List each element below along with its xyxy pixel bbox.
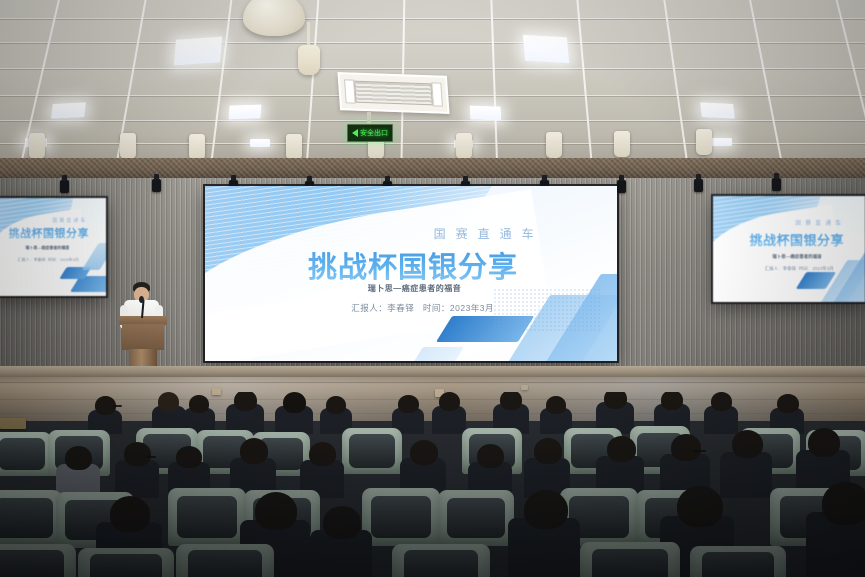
ceiling-speaker xyxy=(286,134,302,160)
audience-head xyxy=(534,438,562,464)
glasses-icon xyxy=(113,405,122,407)
light-panel xyxy=(228,104,261,119)
audience-head xyxy=(65,446,92,470)
stage-object xyxy=(521,385,528,390)
audience-head xyxy=(732,430,763,458)
glasses-icon xyxy=(146,456,156,458)
audience-head xyxy=(607,436,636,462)
slide-title: 挑战杯国银分享 xyxy=(9,225,90,241)
slide-kicker: 国赛直通车 xyxy=(52,217,87,224)
audience-head xyxy=(255,492,297,530)
light-panel xyxy=(51,102,86,119)
audience xyxy=(0,392,865,577)
auditorium-seat xyxy=(580,542,680,577)
slide-kicker: 国赛直通车 xyxy=(434,225,544,242)
presenter-label: 汇报人： xyxy=(765,266,783,271)
ceiling-speaker xyxy=(29,133,45,159)
presenter-label: 汇报人： xyxy=(351,303,387,313)
exit-arrow-icon xyxy=(352,129,358,137)
date-label: 时间： xyxy=(799,266,813,271)
auditorium-scene: 安全出口 国赛直通车 挑战杯国银分享 瑞卜思—癌症患者的福音 汇报人：李春铎 xyxy=(0,0,865,577)
track-light xyxy=(152,179,161,192)
light-panel xyxy=(174,36,223,65)
ceiling-speaker xyxy=(189,134,205,160)
audience-head xyxy=(604,392,627,409)
ceiling xyxy=(0,0,865,172)
light-panel xyxy=(522,35,569,63)
ceiling-speaker xyxy=(696,129,712,155)
audience-head xyxy=(326,396,346,414)
date-value: 2023年3月 xyxy=(450,303,494,313)
auditorium-seat xyxy=(168,488,246,546)
track-light xyxy=(617,180,626,193)
ac-diffuser xyxy=(338,72,450,114)
audience-head xyxy=(323,506,361,539)
auditorium-seat xyxy=(0,490,62,546)
audience-member xyxy=(720,452,772,498)
audience-head xyxy=(189,395,209,413)
light-panel xyxy=(250,139,270,147)
slide-title: 挑战杯国银分享 xyxy=(308,244,518,286)
presenter-name: 李春铎 xyxy=(783,266,797,271)
audience-head xyxy=(477,444,504,468)
ceiling-speaker xyxy=(456,133,472,159)
auditorium-seat xyxy=(438,490,514,546)
audience-head xyxy=(808,428,840,457)
audience-head xyxy=(677,486,723,527)
audience-head xyxy=(661,392,683,410)
right-side-screen[interactable]: 国赛直通车 挑战杯国银分享 瑞卜思—癌症患者的福音 汇报人：李春铎 时间：202… xyxy=(713,196,865,302)
auditorium-seat xyxy=(0,432,52,476)
presenter-name: 李春铎 xyxy=(34,257,46,262)
left-side-screen[interactable]: 国赛直通车 挑战杯国银分享 瑞卜思—癌症患者的福音 汇报人：李春铎 时间：202… xyxy=(0,198,106,296)
audience-head xyxy=(110,496,150,532)
audience-head xyxy=(777,394,799,413)
slide-subtitle: 瑞卜思—癌症患者的福音 xyxy=(368,283,462,294)
presentation-slide: 国赛直通车 挑战杯国银分享 瑞卜思—癌症患者的福音 汇报人：李春铎 时间：202… xyxy=(205,186,617,361)
audience-head xyxy=(283,392,306,413)
slide-dot-pattern xyxy=(493,288,600,334)
slide-kicker: 国赛直通车 xyxy=(795,218,845,227)
auditorium-seat xyxy=(362,488,440,546)
date-label: 时间： xyxy=(48,257,60,262)
exit-sign: 安全出口 xyxy=(347,124,393,142)
date-value: 2023年3月 xyxy=(60,257,79,262)
audience-head xyxy=(524,490,568,529)
auditorium-seat xyxy=(342,428,402,474)
slide-presenter-line: 汇报人：李春铎 时间：2023年3月 xyxy=(765,266,834,272)
audience-head xyxy=(158,392,179,412)
audience-head xyxy=(711,392,732,411)
audience-head xyxy=(410,440,438,465)
auditorium-seat xyxy=(0,544,76,577)
stage-soffit-beam xyxy=(0,158,865,180)
slide-diagonal-bar xyxy=(399,347,464,361)
track-light xyxy=(772,178,781,191)
ceiling-speaker xyxy=(120,133,136,159)
ceiling-speaker xyxy=(298,45,320,75)
presenter-label: 汇报人： xyxy=(18,257,34,262)
main-screen[interactable]: 国赛直通车 挑战杯国银分享 瑞卜思—癌症患者的福音 汇报人：李春铎 时间：202… xyxy=(205,186,617,361)
stage-front-edge xyxy=(0,366,865,377)
microphone-head xyxy=(139,296,144,303)
audience-head xyxy=(234,392,257,411)
podium-body xyxy=(122,324,163,350)
audience-head xyxy=(124,442,151,466)
slide-presenter-line: 汇报人：李春铎 时间：2023年3月 xyxy=(18,257,79,263)
exit-sign-label: 安全出口 xyxy=(360,130,388,137)
ceiling-speaker xyxy=(614,131,630,157)
track-light xyxy=(60,180,69,193)
light-panel xyxy=(470,105,502,120)
auditorium-seat xyxy=(690,546,786,577)
auditorium-seat xyxy=(78,548,174,577)
ceiling-speaker xyxy=(546,132,562,158)
audience-head xyxy=(309,442,336,466)
auditorium-seat xyxy=(392,544,490,577)
slide-title: 挑战杯国银分享 xyxy=(749,230,844,249)
audience-head xyxy=(500,392,522,410)
date-label: 时间： xyxy=(423,303,450,313)
audience-head xyxy=(176,446,202,468)
date-value: 2023年3月 xyxy=(812,266,834,271)
slide-subtitle: 瑞卜思—癌症患者的福音 xyxy=(772,254,822,260)
light-panel xyxy=(700,102,735,119)
audience-head xyxy=(822,482,865,525)
presenter-name: 李春铎 xyxy=(387,303,414,313)
audience-head xyxy=(546,396,566,414)
slide-presenter-line: 汇报人：李春铎 时间：2023年3月 xyxy=(351,302,494,314)
light-panel xyxy=(711,138,732,146)
auditorium-seat xyxy=(176,544,274,577)
track-light xyxy=(694,179,703,192)
audience-head xyxy=(398,395,419,413)
glasses-icon xyxy=(694,450,706,452)
audience-head xyxy=(439,392,460,411)
slide-subtitle: 瑞卜思—癌症患者的福音 xyxy=(25,245,69,251)
audience-head xyxy=(671,434,701,461)
audience-head xyxy=(240,438,268,464)
ceiling-speaker xyxy=(243,0,305,36)
